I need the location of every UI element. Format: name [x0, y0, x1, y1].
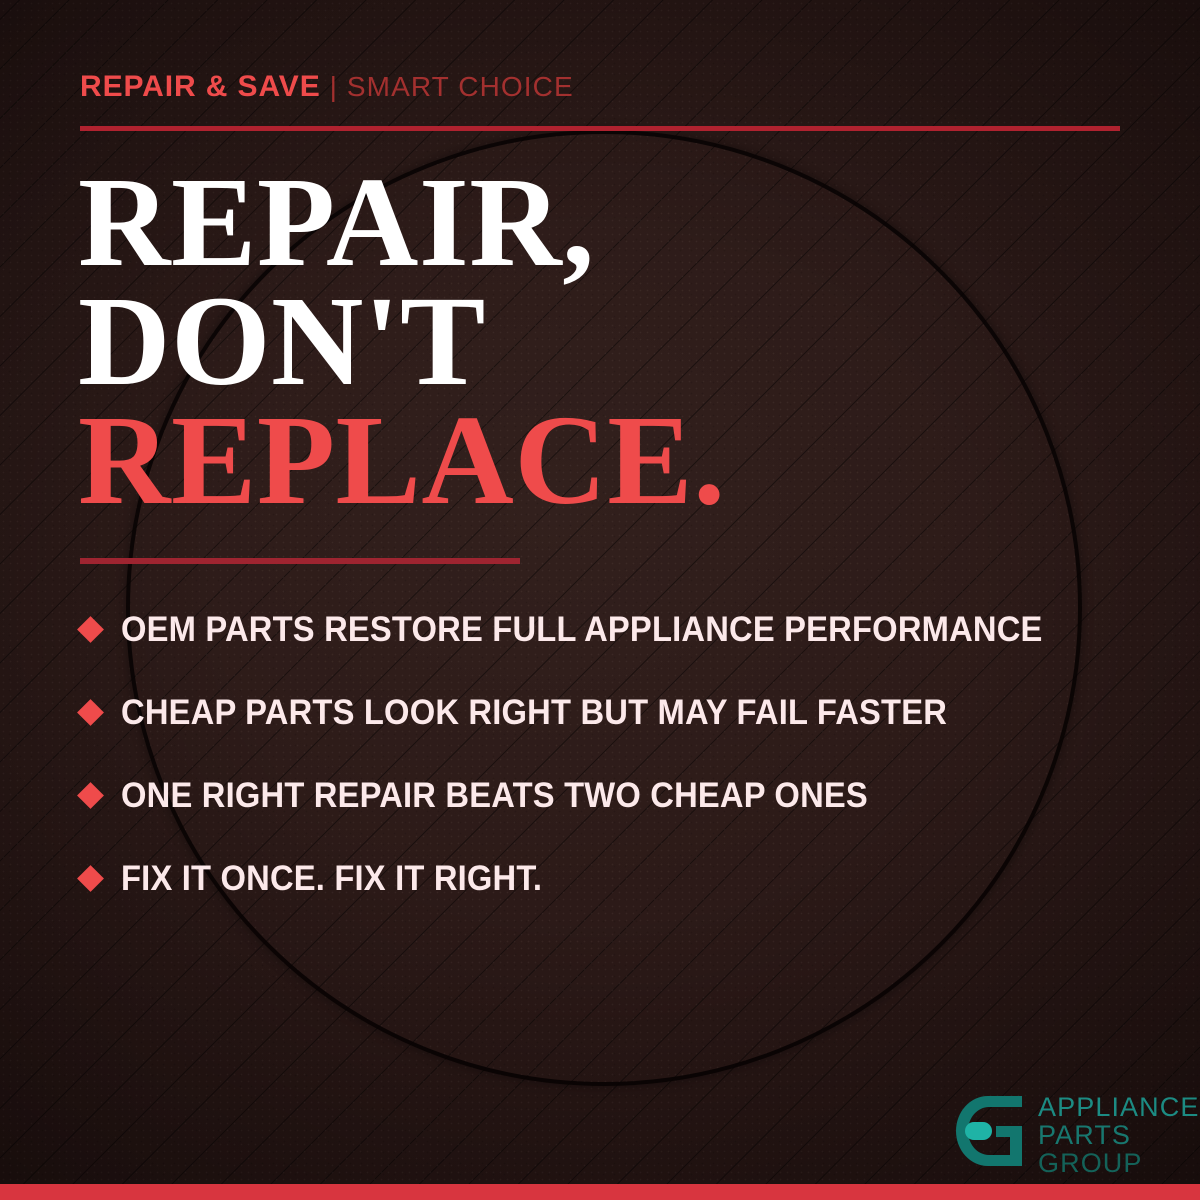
kicker-light-text: | SMART CHOICE [330, 71, 574, 102]
footer-accent-bar [0, 1184, 1200, 1200]
diamond-bullet-icon [77, 865, 104, 892]
header-rule [80, 126, 1120, 131]
diamond-bullet-icon [77, 699, 104, 726]
list-item-label: OEM PARTS RESTORE FULL APPLIANCE PERFORM… [121, 610, 1043, 650]
headline-line-1: REPAIR, [78, 163, 726, 282]
brand-logo-wordmark: APPLIANCE PARTS GROUP [1038, 1094, 1199, 1177]
kicker: REPAIR & SAVE| SMART CHOICE [80, 72, 574, 102]
poster-canvas: REPAIR & SAVE| SMART CHOICE REPAIR, DON'… [0, 0, 1200, 1200]
headline-line-2: DON'T [78, 282, 726, 401]
kicker-strong-text: REPAIR & SAVE [80, 70, 321, 103]
poster-content: REPAIR & SAVE| SMART CHOICE REPAIR, DON'… [0, 0, 1200, 1200]
list-item-label: ONE RIGHT REPAIR BEATS TWO CHEAP ONES [121, 776, 868, 816]
brand-word-appliance: APPLIANCE [1038, 1094, 1199, 1121]
diamond-bullet-icon [77, 782, 104, 809]
list-item: ONE RIGHT REPAIR BEATS TWO CHEAP ONES [78, 754, 1148, 837]
letter-g-mark-icon [952, 1092, 1026, 1170]
brand-word-group: GROUP [1038, 1150, 1199, 1177]
page-title: REPAIR, DON'T REPLACE. [78, 163, 726, 520]
headline-divider-rule [80, 558, 520, 564]
brand-logo: APPLIANCE PARTS GROUP [952, 1092, 1199, 1177]
diamond-bullet-icon [77, 616, 104, 643]
list-item: OEM PARTS RESTORE FULL APPLIANCE PERFORM… [78, 588, 1148, 671]
brand-word-parts: PARTS [1038, 1122, 1199, 1149]
list-item-label: CHEAP PARTS LOOK RIGHT BUT MAY FAIL FAST… [121, 693, 947, 733]
benefit-list: OEM PARTS RESTORE FULL APPLIANCE PERFORM… [78, 588, 1148, 920]
headline-line-3: REPLACE. [78, 401, 726, 520]
list-item: CHEAP PARTS LOOK RIGHT BUT MAY FAIL FAST… [78, 671, 1148, 754]
list-item: FIX IT ONCE. FIX IT RIGHT. [78, 837, 1148, 920]
list-item-label: FIX IT ONCE. FIX IT RIGHT. [121, 859, 542, 899]
